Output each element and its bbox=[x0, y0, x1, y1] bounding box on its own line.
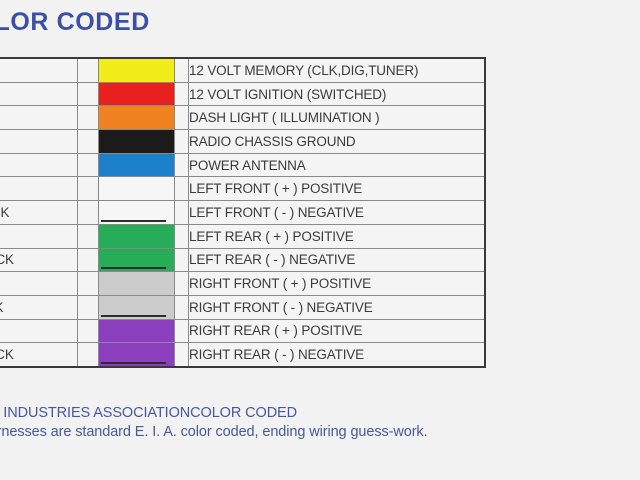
page-title: A. COLOR CODED bbox=[0, 8, 342, 37]
color-swatch bbox=[99, 59, 174, 82]
color-swatch-cell bbox=[99, 106, 175, 130]
wire-function-description: RIGHT REAR ( - ) NEGATIVE bbox=[189, 343, 486, 367]
footer-heading: CTRONIC INDUSTRIES ASSOCIATIONCOLOR CODE… bbox=[0, 405, 640, 421]
spacer-cell bbox=[78, 58, 99, 82]
color-swatch bbox=[99, 83, 174, 106]
wire-function-description: 12 VOLT MEMORY (CLK,DIG,TUNER) bbox=[189, 58, 486, 82]
color-swatch bbox=[99, 225, 174, 248]
spacer-cell-right bbox=[175, 224, 189, 248]
color-swatch-cell bbox=[99, 177, 175, 201]
spacer-cell-right bbox=[175, 177, 189, 201]
table-row: GREENLEFT REAR ( + ) POSITIVE bbox=[0, 224, 485, 248]
color-swatch-cell bbox=[99, 201, 175, 225]
spacer-cell bbox=[78, 177, 99, 201]
spacer-cell bbox=[78, 272, 99, 296]
table-row: ORANGEDASH LIGHT ( ILLUMINATION ) bbox=[0, 106, 485, 130]
spacer-cell-right bbox=[175, 343, 189, 367]
color-swatch-cell bbox=[99, 82, 175, 106]
table-row: YELLOW12 VOLT MEMORY (CLK,DIG,TUNER) bbox=[0, 58, 485, 82]
wire-function-description: RIGHT REAR ( + ) POSITIVE bbox=[189, 319, 486, 343]
wire-color-name: RED bbox=[0, 82, 78, 106]
table-row: WHITELEFT FRONT ( + ) POSITIVE bbox=[0, 177, 485, 201]
wire-function-description: DASH LIGHT ( ILLUMINATION ) bbox=[189, 106, 486, 130]
color-swatch bbox=[99, 272, 174, 295]
spacer-cell-right bbox=[175, 106, 189, 130]
footer-block: CTRONIC INDUSTRIES ASSOCIATIONCOLOR CODE… bbox=[0, 405, 640, 440]
wire-function-description: POWER ANTENNA bbox=[189, 153, 486, 177]
color-swatch-cell bbox=[99, 272, 175, 296]
wire-function-description: LEFT REAR ( + ) POSITIVE bbox=[189, 224, 486, 248]
color-swatch-cell bbox=[99, 319, 175, 343]
spacer-cell bbox=[78, 153, 99, 177]
wire-function-description: LEFT FRONT ( - ) NEGATIVE bbox=[189, 201, 486, 225]
table-row: GRAYRIGHT FRONT ( + ) POSITIVE bbox=[0, 272, 485, 296]
spacer-cell-right bbox=[175, 295, 189, 319]
spacer-cell-right bbox=[175, 153, 189, 177]
color-swatch-cell bbox=[99, 343, 175, 367]
wire-color-name: VIOLET bbox=[0, 319, 78, 343]
color-code-table: YELLOW12 VOLT MEMORY (CLK,DIG,TUNER)RED1… bbox=[0, 57, 486, 368]
table-row: GRAY/BLACKRIGHT FRONT ( - ) NEGATIVE bbox=[0, 295, 485, 319]
footer-body: ur wire harnesses are standard E. I. A. … bbox=[0, 424, 640, 440]
color-swatch-cell bbox=[99, 224, 175, 248]
spacer-cell bbox=[78, 319, 99, 343]
color-code-chart: YELLOW12 VOLT MEMORY (CLK,DIG,TUNER)RED1… bbox=[0, 57, 478, 355]
spacer-cell bbox=[78, 343, 99, 367]
wire-function-description: 12 VOLT IGNITION (SWITCHED) bbox=[189, 82, 486, 106]
spacer-cell bbox=[78, 224, 99, 248]
color-swatch-cell bbox=[99, 295, 175, 319]
spacer-cell bbox=[78, 106, 99, 130]
color-swatch bbox=[99, 177, 174, 200]
table-row: VIOLET/BLACKRIGHT REAR ( - ) NEGATIVE bbox=[0, 343, 485, 367]
table-body: YELLOW12 VOLT MEMORY (CLK,DIG,TUNER)RED1… bbox=[0, 58, 485, 367]
spacer-cell bbox=[78, 201, 99, 225]
wire-color-name: GRAY bbox=[0, 272, 78, 296]
table-row: RED12 VOLT IGNITION (SWITCHED) bbox=[0, 82, 485, 106]
color-swatch-cell bbox=[99, 130, 175, 154]
spacer-cell-right bbox=[175, 319, 189, 343]
spacer-cell-right bbox=[175, 82, 189, 106]
wire-color-name: WHITE bbox=[0, 177, 78, 201]
wire-function-description: RADIO CHASSIS GROUND bbox=[189, 130, 486, 154]
black-tracer-stripe bbox=[101, 267, 166, 269]
wire-color-name: BLACK bbox=[0, 130, 78, 154]
color-swatch bbox=[99, 154, 174, 177]
spacer-cell-right bbox=[175, 58, 189, 82]
wire-color-name: WHITE/BLACK bbox=[0, 201, 78, 225]
wire-color-name: BLUE bbox=[0, 153, 78, 177]
wire-color-name: ORANGE bbox=[0, 106, 78, 130]
wire-color-name: VIOLET/BLACK bbox=[0, 343, 78, 367]
color-swatch-cell bbox=[99, 248, 175, 272]
wire-color-name: GREEN bbox=[0, 224, 78, 248]
table-row: BLUEPOWER ANTENNA bbox=[0, 153, 485, 177]
wire-function-description: LEFT REAR ( - ) NEGATIVE bbox=[189, 248, 486, 272]
spacer-cell-right bbox=[175, 201, 189, 225]
color-swatch bbox=[99, 106, 174, 129]
spacer-cell bbox=[78, 82, 99, 106]
wire-color-name: YELLOW bbox=[0, 58, 78, 82]
black-tracer-stripe bbox=[101, 362, 166, 364]
wire-color-name: GREEN/BLACK bbox=[0, 248, 78, 272]
table-row: VIOLETRIGHT REAR ( + ) POSITIVE bbox=[0, 319, 485, 343]
color-swatch bbox=[99, 320, 174, 343]
spacer-cell bbox=[78, 248, 99, 272]
wire-color-name: GRAY/BLACK bbox=[0, 295, 78, 319]
spacer-cell-right bbox=[175, 248, 189, 272]
color-swatch bbox=[99, 130, 174, 153]
color-swatch-cell bbox=[99, 58, 175, 82]
wire-function-description: RIGHT FRONT ( + ) POSITIVE bbox=[189, 272, 486, 296]
spacer-cell bbox=[78, 130, 99, 154]
table-row: GREEN/BLACKLEFT REAR ( - ) NEGATIVE bbox=[0, 248, 485, 272]
table-row: WHITE/BLACKLEFT FRONT ( - ) NEGATIVE bbox=[0, 201, 485, 225]
spacer-cell-right bbox=[175, 130, 189, 154]
spacer-cell-right bbox=[175, 272, 189, 296]
wire-function-description: LEFT FRONT ( + ) POSITIVE bbox=[189, 177, 486, 201]
wire-function-description: RIGHT FRONT ( - ) NEGATIVE bbox=[189, 295, 486, 319]
black-tracer-stripe bbox=[101, 220, 166, 222]
black-tracer-stripe bbox=[101, 315, 166, 317]
wiring-color-code-page: A. COLOR CODED YELLOW12 VOLT MEMORY (CLK… bbox=[0, 0, 640, 480]
color-swatch-cell bbox=[99, 153, 175, 177]
spacer-cell bbox=[78, 295, 99, 319]
table-row: BLACKRADIO CHASSIS GROUND bbox=[0, 130, 485, 154]
